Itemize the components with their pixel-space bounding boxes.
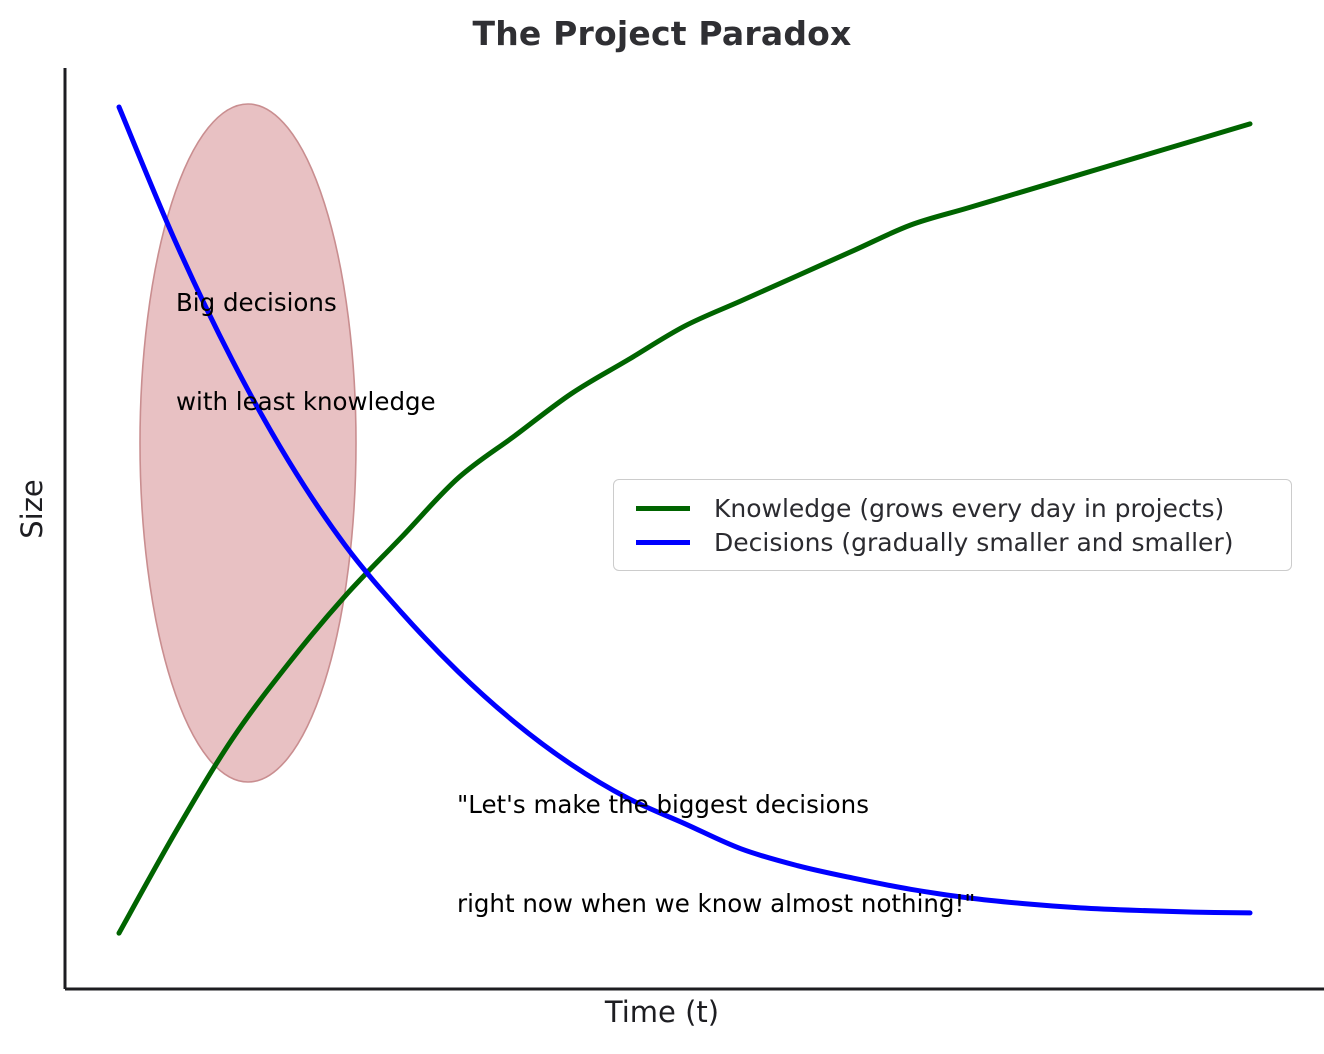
y-axis-label: Size: [15, 464, 49, 554]
legend-item-decisions[interactable]: Decisions (gradually smaller and smaller…: [628, 525, 1277, 559]
annotation-line-2: with least knowledge: [176, 385, 436, 418]
legend-swatch-knowledge: [636, 506, 690, 511]
quote-line-2: right now when we know almost nothing!": [457, 887, 976, 920]
chart-page: The Project Paradox Size Time (t) Big de…: [0, 0, 1324, 1054]
legend-item-knowledge[interactable]: Knowledge (grows every day in projects): [628, 491, 1277, 525]
legend-label-knowledge: Knowledge (grows every day in projects): [714, 494, 1224, 523]
annotation-big-decisions: Big decisions with least knowledge: [176, 220, 436, 484]
annotation-line-1: Big decisions: [176, 286, 436, 319]
quote-line-1: "Let's make the biggest decisions: [457, 788, 976, 821]
legend-swatch-decisions: [636, 540, 690, 545]
chart-legend: Knowledge (grows every day in projects) …: [613, 479, 1292, 571]
legend-label-decisions: Decisions (gradually smaller and smaller…: [714, 528, 1233, 557]
x-axis-label: Time (t): [0, 995, 1324, 1029]
annotation-quote: "Let's make the biggest decisions right …: [457, 722, 976, 986]
